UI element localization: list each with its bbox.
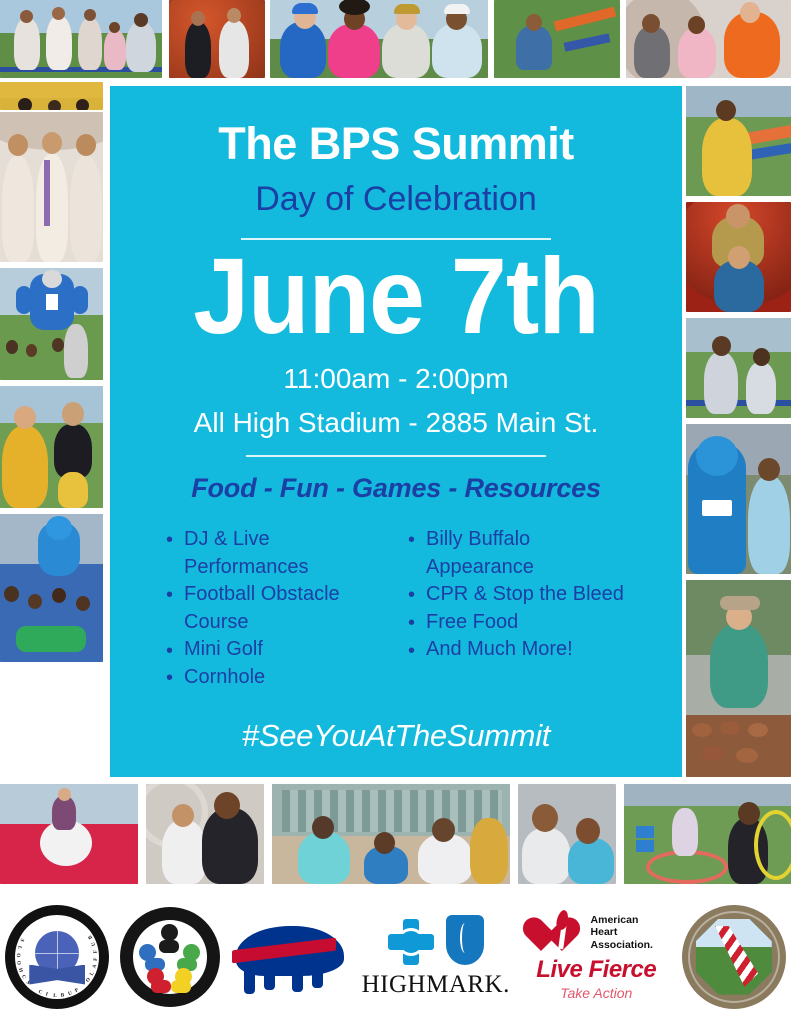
bullet-icon: • [166, 665, 173, 693]
bcbs-marks-icon [388, 915, 484, 965]
aha-line-3: Association. [591, 939, 653, 951]
event-time: 11:00am - 2:00pm [136, 363, 656, 395]
aha-wordmark: American Heart Association. [591, 914, 653, 951]
list-item: •Football Obstacle Course [164, 581, 382, 636]
list-item-label: DJ & Live Performances [184, 528, 309, 578]
buffalo-public-schools-seal: BUFFALO PUBLIC SCHOOLS BUFFALO PUBLIC SC… [5, 905, 109, 1009]
buffalo-bills-logo: Buffalo Bills [230, 918, 350, 996]
photo-hula-hoop [624, 784, 791, 884]
list-item: •Cornhole [164, 664, 382, 692]
event-date: June 7th [154, 244, 638, 349]
fce-seal-icon [120, 907, 220, 1007]
list-item: •CPR & Stop the Bleed [406, 581, 628, 609]
bullet-icon: • [166, 527, 173, 555]
divider-bottom [246, 455, 546, 457]
photo-mechanical-bull [0, 784, 138, 884]
highmark-wordmark: HIGHMARK. [362, 971, 510, 999]
activities-list-right: •Billy Buffalo Appearance •CPR & Stop th… [406, 526, 628, 692]
photo-man-and-toddler [0, 386, 103, 508]
list-item: •Billy Buffalo Appearance [406, 526, 628, 581]
photo-three-girls-traditional [0, 112, 103, 262]
blue-cross-icon [388, 919, 434, 965]
photo-mascot-with-kids [0, 514, 103, 662]
bps-seal-icon: BUFFALO PUBLIC SCHOOLS [5, 905, 109, 1009]
photo-kids-bleachers [272, 784, 510, 884]
blue-shield-icon [446, 915, 484, 965]
photo-art-wall-partial [0, 82, 103, 110]
bullet-icon: • [166, 582, 173, 610]
event-location: All High Stadium - 2885 Main St. [136, 407, 656, 439]
list-item: •DJ & Live Performances [164, 526, 382, 581]
list-item-label: Free Food [426, 611, 518, 633]
bullet-icon: • [408, 610, 415, 638]
aha-line-2: Heart [591, 926, 653, 938]
aha-line-1: American [591, 914, 653, 926]
list-item-label: Football Obstacle Course [184, 583, 340, 633]
bullet-icon: • [408, 638, 415, 666]
event-flyer: The BPS Summit Day of Celebration June 7… [0, 0, 791, 1023]
photo-inflatable-football-player [0, 268, 103, 380]
list-item-label: Mini Golf [184, 638, 263, 660]
event-hashtag: #SeeYouAtTheSummit [136, 718, 656, 754]
list-item: •Free Food [406, 609, 628, 637]
photo-dancer-yellow-dress [686, 86, 791, 196]
activities-lists: •DJ & Live Performances •Football Obstac… [136, 526, 656, 692]
bullet-icon: • [408, 527, 415, 555]
photo-girl-sitting-turf [494, 0, 620, 78]
event-details-panel: The BPS Summit Day of Celebration June 7… [110, 86, 682, 777]
sponsor-logo-bar: BUFFALO PUBLIC SCHOOLS BUFFALO PUBLIC SC… [0, 890, 791, 1023]
photo-grilling-burgers [686, 580, 791, 777]
photo-two-girls-smiling [518, 784, 616, 884]
american-heart-association-logo: American Heart Association. Live Fierce … [521, 913, 671, 1001]
photo-mother-and-son [686, 202, 791, 312]
list-item-label: And Much More! [426, 638, 573, 660]
photo-billy-buffalo-mascot [686, 424, 791, 574]
aha-campaign: Live Fierce [536, 956, 656, 984]
photo-face-painting [626, 0, 791, 78]
photo-woman-holding-child [146, 784, 264, 884]
photo-four-adults-group [270, 0, 488, 78]
page-title: The BPS Summit [136, 120, 656, 169]
aha-campaign-sub: Take Action [560, 985, 632, 1001]
bullet-icon: • [408, 582, 415, 610]
list-item-label: Cornhole [184, 666, 265, 688]
aha-heart-torch-icon [540, 913, 584, 953]
event-subtitle: Day of Celebration [136, 181, 656, 218]
photo-dancers-field [0, 0, 162, 78]
list-item-label: Billy Buffalo Appearance [426, 528, 534, 578]
event-tagline: Food - Fun - Games - Resources [136, 473, 656, 504]
list-item-label: CPR & Stop the Bleed [426, 583, 624, 605]
list-item: •Mini Golf [164, 636, 382, 664]
erie-county-seal: SEAL OF · ERIE COUNTY · STATE OF NEW YOR… [682, 905, 786, 1009]
activities-list-left: •DJ & Live Performances •Football Obstac… [164, 526, 382, 692]
photo-two-kids-sunglasses [686, 318, 791, 418]
photo-two-students-portrait [169, 0, 265, 78]
erie-seal-icon [682, 905, 786, 1009]
family-community-engagement-seal: DEPARTMENT OF FAMILY & COMMUNITY ENGAGEM… [120, 907, 220, 1007]
list-item: •And Much More! [406, 636, 628, 664]
bills-buffalo-icon [230, 918, 350, 996]
highmark-logo: HIGHMARK. [361, 915, 511, 999]
bullet-icon: • [166, 638, 173, 666]
